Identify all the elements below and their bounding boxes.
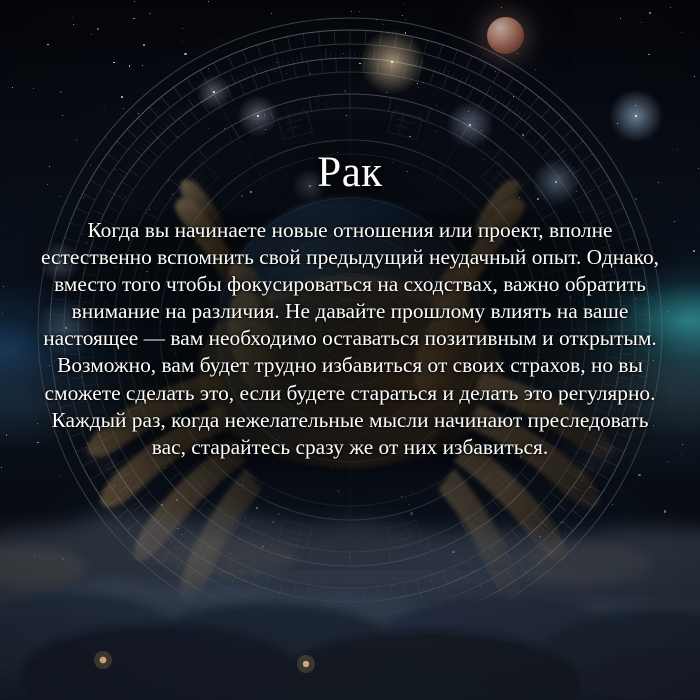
cloud-bank (0, 460, 700, 700)
page-title: Рак (36, 0, 664, 194)
card-content: Рак Когда вы начинаете новые отношения и… (0, 0, 700, 461)
horoscope-card: Рак Когда вы начинаете новые отношения и… (0, 0, 700, 700)
horoscope-body-text: Когда вы начинаете новые отношения или п… (36, 194, 664, 461)
